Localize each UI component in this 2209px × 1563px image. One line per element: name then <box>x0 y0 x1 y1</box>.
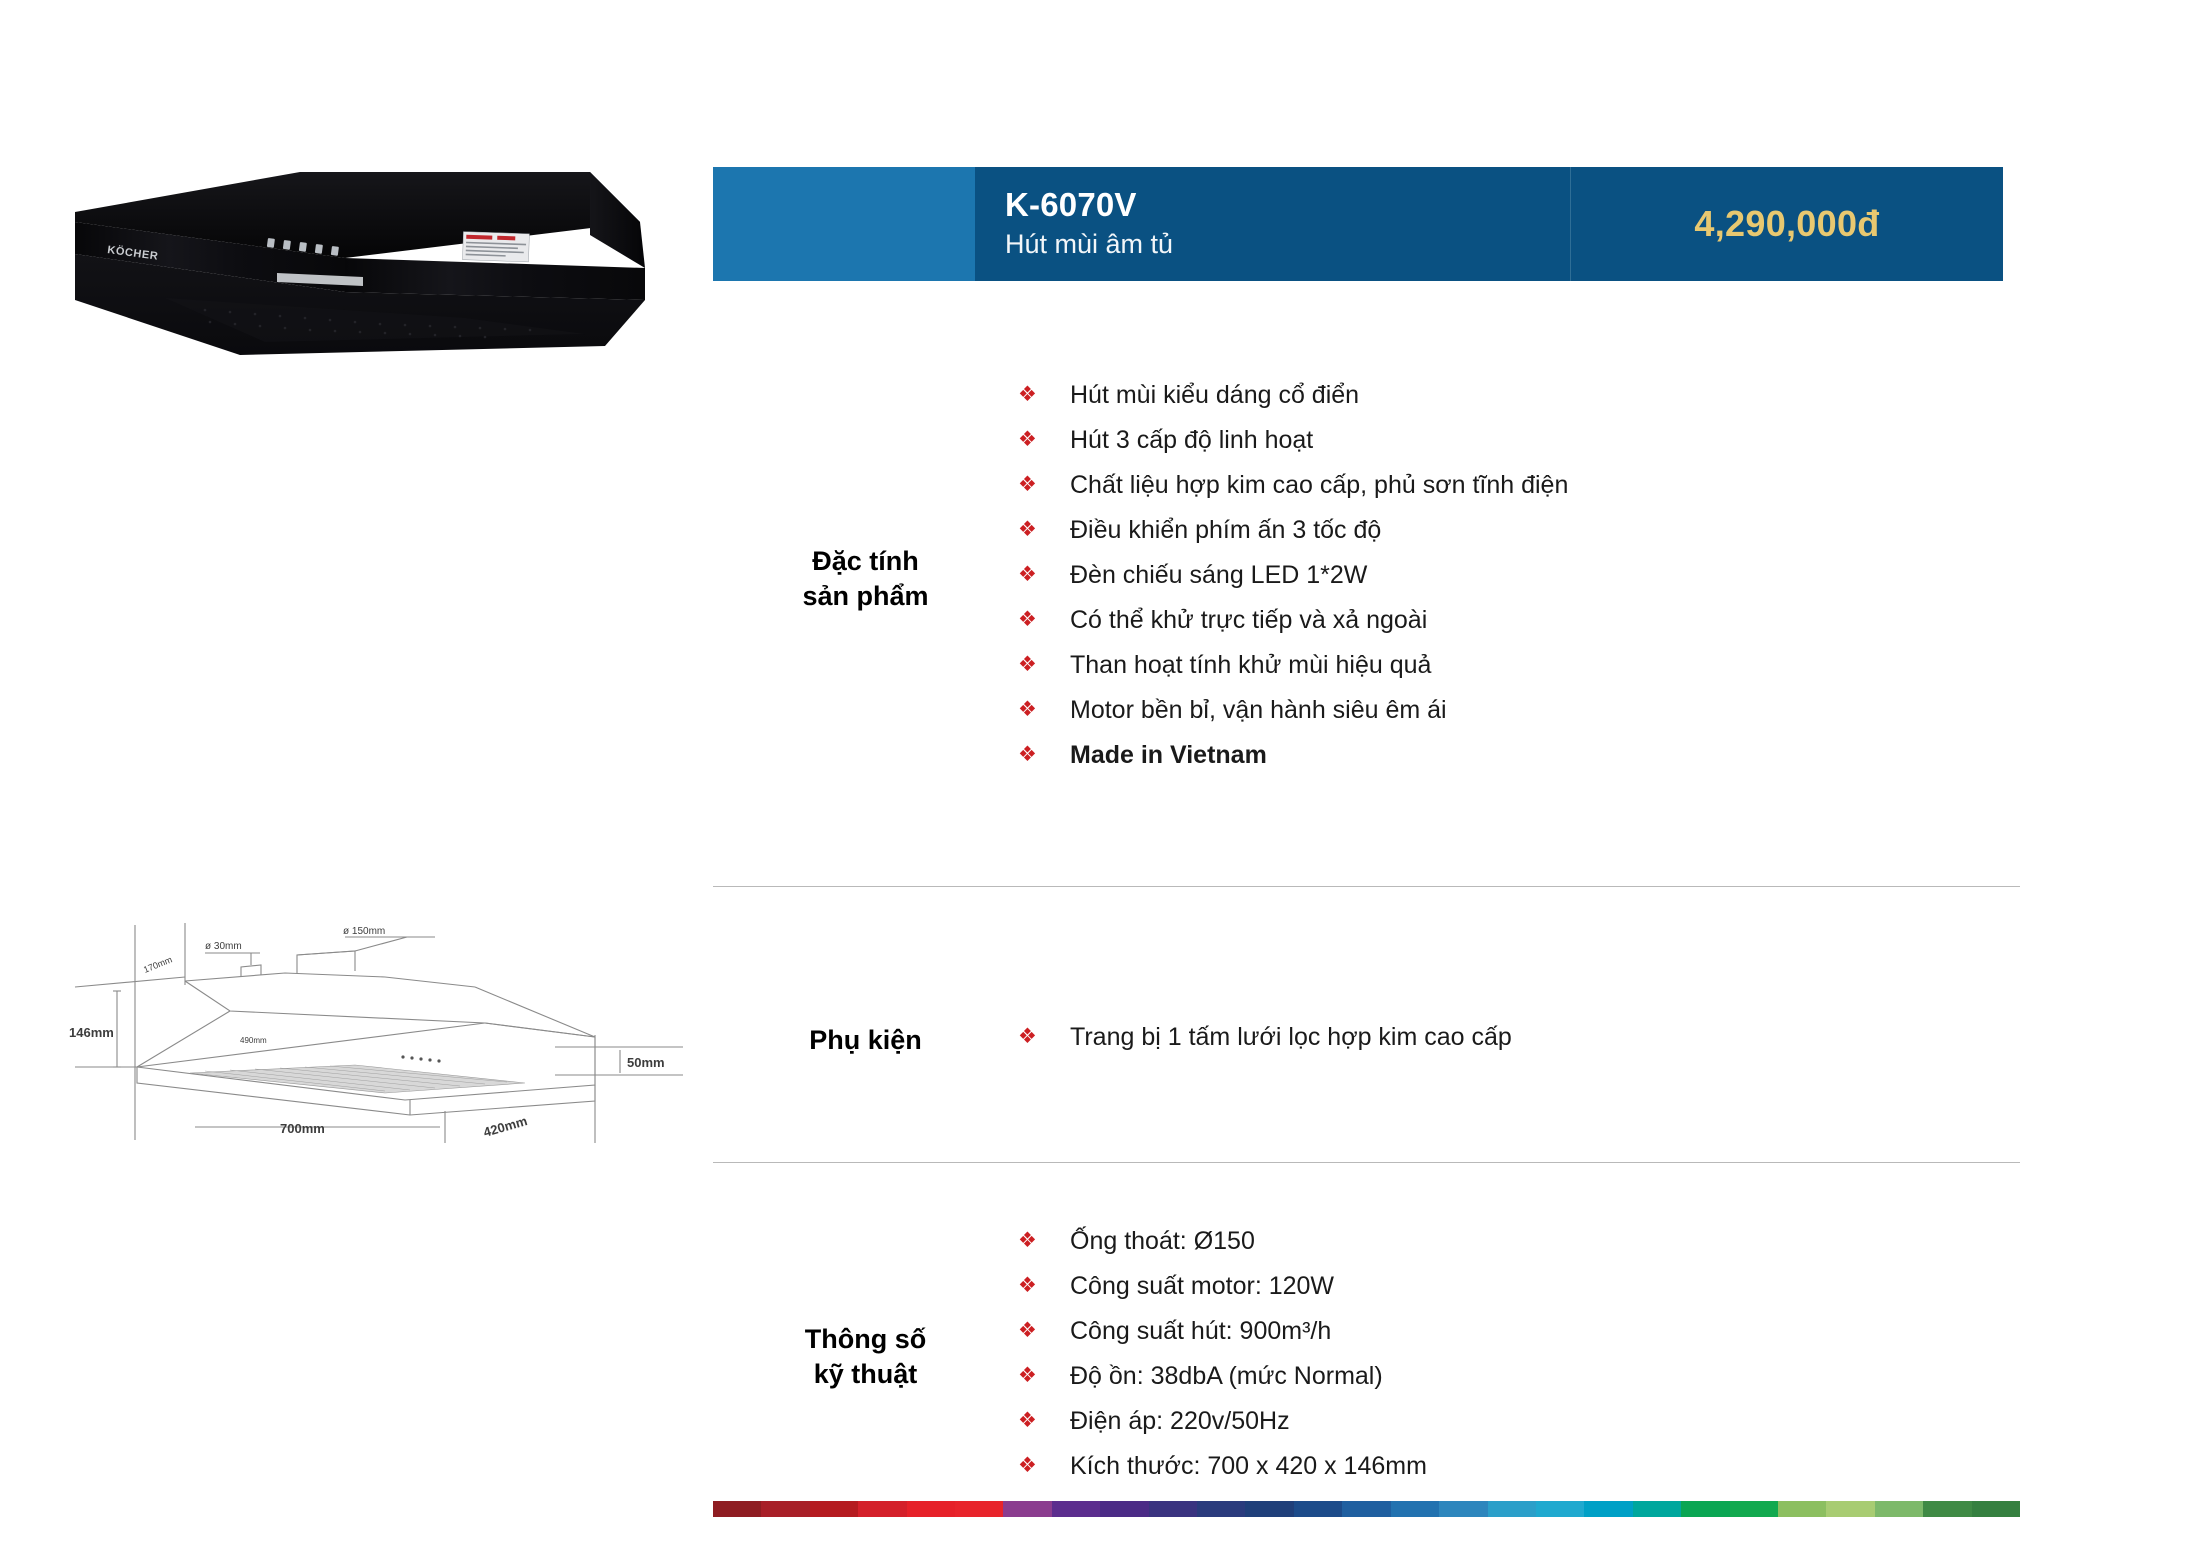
section-features-label-line1: Đặc tính <box>812 546 919 576</box>
spec-item: ❖ Công suất hút: 900m³/h <box>1018 1314 2020 1359</box>
diamond-bullet-icon: ❖ <box>1018 423 1070 457</box>
section-specifications-label-line1: Thông số <box>805 1324 926 1354</box>
svg-text:170mm: 170mm <box>142 954 174 975</box>
feature-text: Hút 3 cấp độ linh hoạt <box>1070 423 1313 457</box>
accessory-text: Trang bị 1 tấm lưới lọc hợp kim cao cấp <box>1070 1020 1512 1054</box>
diamond-bullet-icon: ❖ <box>1018 1269 1070 1303</box>
left-image-column: KÖCHER <box>0 0 700 1563</box>
footer-color-segment <box>1972 1501 2020 1517</box>
product-header-bar: K-6070V Hút mùi âm tủ 4,290,000đ <box>713 167 2003 281</box>
diamond-bullet-icon: ❖ <box>1018 693 1070 727</box>
spec-item: ❖ Độ ồn: 38dbA (mức Normal) <box>1018 1359 2020 1404</box>
technical-dimension-drawing: 146mm 700mm 420mm 50mm ø 30mm ø 150mm 17… <box>55 915 685 1145</box>
feature-text: Motor bền bỉ, vận hành siêu êm ái <box>1070 693 1447 727</box>
spec-item: ❖ Kích thước: 700 x 420 x 146mm <box>1018 1449 2020 1494</box>
diamond-bullet-icon: ❖ <box>1018 1224 1070 1258</box>
footer-color-segment <box>907 1501 955 1517</box>
diamond-bullet-icon: ❖ <box>1018 603 1070 637</box>
footer-color-segment <box>1197 1501 1245 1517</box>
product-model-name: K-6070V <box>1005 186 1570 224</box>
diamond-bullet-icon: ❖ <box>1018 558 1070 592</box>
diamond-bullet-icon: ❖ <box>1018 1020 1070 1054</box>
feature-text: Đèn chiếu sáng LED 1*2W <box>1070 558 1367 592</box>
diamond-bullet-icon: ❖ <box>1018 1359 1070 1393</box>
feature-item: ❖ Made in Vietnam <box>1018 738 2020 783</box>
section-features-label-line2: sản phẩm <box>802 581 928 611</box>
spec-text: Công suất hút: 900m³/h <box>1070 1314 1331 1348</box>
footer-color-segment <box>1149 1501 1197 1517</box>
diamond-bullet-icon: ❖ <box>1018 648 1070 682</box>
footer-color-segment <box>1342 1501 1390 1517</box>
diamond-bullet-icon: ❖ <box>1018 378 1070 412</box>
header-left-accent <box>713 167 975 281</box>
spec-item: ❖ Điện áp: 220v/50Hz <box>1018 1404 2020 1449</box>
footer-color-strip <box>713 1501 2020 1517</box>
feature-text: Made in Vietnam <box>1070 738 1267 772</box>
spec-text: Kích thước: 700 x 420 x 146mm <box>1070 1449 1427 1483</box>
section-specifications-label: Thông số kỹ thuật <box>713 1222 1018 1492</box>
product-price-block: 4,290,000đ <box>1571 167 2003 281</box>
svg-text:50mm: 50mm <box>627 1055 665 1070</box>
footer-color-segment <box>1100 1501 1148 1517</box>
accessory-item: ❖ Trang bị 1 tấm lưới lọc hợp kim cao cấ… <box>1018 1020 2020 1065</box>
footer-color-segment <box>1730 1501 1778 1517</box>
diamond-bullet-icon: ❖ <box>1018 468 1070 502</box>
svg-text:146mm: 146mm <box>69 1025 114 1040</box>
footer-color-segment <box>1003 1501 1051 1517</box>
product-category-subtitle: Hút mùi âm tủ <box>1005 227 1570 262</box>
footer-color-segment <box>1875 1501 1923 1517</box>
svg-text:700mm: 700mm <box>280 1121 325 1136</box>
feature-item: ❖ Điều khiển phím ấn 3 tốc độ <box>1018 513 2020 558</box>
svg-text:420mm: 420mm <box>482 1113 529 1140</box>
feature-item: ❖ Đèn chiếu sáng LED 1*2W <box>1018 558 2020 603</box>
spec-text: Điện áp: 220v/50Hz <box>1070 1404 1290 1438</box>
diamond-bullet-icon: ❖ <box>1018 738 1070 772</box>
svg-text:ø 30mm: ø 30mm <box>205 941 242 952</box>
footer-color-segment <box>1052 1501 1100 1517</box>
section-features-list: ❖ Hút mùi kiểu dáng cổ điển ❖ Hút 3 cấp … <box>1018 376 2020 783</box>
diamond-bullet-icon: ❖ <box>1018 1404 1070 1438</box>
feature-item: ❖ Hút 3 cấp độ linh hoạt <box>1018 423 2020 468</box>
footer-color-segment <box>1294 1501 1342 1517</box>
product-photo: KÖCHER <box>45 150 685 355</box>
section-features: Đặc tính sản phẩm ❖ Hút mùi kiểu dáng cổ… <box>713 376 2020 783</box>
section-accessories-label-line1: Phụ kiện <box>809 1025 922 1055</box>
section-accessories-list: ❖ Trang bị 1 tấm lưới lọc hợp kim cao cấ… <box>1018 1018 2020 1065</box>
spec-item: ❖ Công suất motor: 120W <box>1018 1269 2020 1314</box>
diamond-bullet-icon: ❖ <box>1018 513 1070 547</box>
footer-color-segment <box>1633 1501 1681 1517</box>
feature-item: ❖ Than hoạt tính khử mùi hiệu quả <box>1018 648 2020 693</box>
section-specifications-label-line2: kỹ thuật <box>814 1359 918 1389</box>
right-content-column: K-6070V Hút mùi âm tủ 4,290,000đ Đặc tín… <box>713 0 2003 1563</box>
footer-color-segment <box>858 1501 906 1517</box>
footer-color-segment <box>1584 1501 1632 1517</box>
svg-text:490mm: 490mm <box>240 1036 267 1045</box>
section-features-label: Đặc tính sản phẩm <box>713 376 1018 781</box>
feature-item: ❖ Có thể khử trực tiếp và xả ngoài <box>1018 603 2020 648</box>
product-price: 4,290,000đ <box>1694 203 1879 245</box>
footer-color-segment <box>1778 1501 1826 1517</box>
footer-color-segment <box>713 1501 761 1517</box>
diamond-bullet-icon: ❖ <box>1018 1449 1070 1483</box>
footer-color-segment <box>1826 1501 1874 1517</box>
feature-text: Điều khiển phím ấn 3 tốc độ <box>1070 513 1381 547</box>
svg-text:ø 150mm: ø 150mm <box>343 926 385 937</box>
spec-item: ❖ Ống thoát: Ø150 <box>1018 1224 2020 1269</box>
footer-color-segment <box>810 1501 858 1517</box>
footer-color-segment <box>1681 1501 1729 1517</box>
feature-text: Có thể khử trực tiếp và xả ngoài <box>1070 603 1427 637</box>
header-title-block: K-6070V Hút mùi âm tủ <box>975 167 1571 281</box>
section-specifications: Thông số kỹ thuật ❖ Ống thoát: Ø150 ❖ Cô… <box>713 1222 2020 1494</box>
section-accessories: Phụ kiện ❖ Trang bị 1 tấm lưới lọc hợp k… <box>713 1018 2020 1065</box>
spec-text: Ống thoát: Ø150 <box>1070 1224 1255 1258</box>
footer-color-segment <box>1391 1501 1439 1517</box>
footer-color-segment <box>1245 1501 1293 1517</box>
section-divider <box>713 886 2020 887</box>
section-divider <box>713 1162 2020 1163</box>
footer-color-segment <box>1536 1501 1584 1517</box>
diamond-bullet-icon: ❖ <box>1018 1314 1070 1348</box>
feature-text: Chất liệu hợp kim cao cấp, phủ sơn tĩnh … <box>1070 468 1568 502</box>
spec-text: Độ ồn: 38dbA (mức Normal) <box>1070 1359 1383 1393</box>
feature-text: Hút mùi kiểu dáng cổ điển <box>1070 378 1359 412</box>
feature-item: ❖ Chất liệu hợp kim cao cấp, phủ sơn tĩn… <box>1018 468 2020 513</box>
footer-color-segment <box>761 1501 809 1517</box>
footer-color-segment <box>1439 1501 1487 1517</box>
section-specifications-list: ❖ Ống thoát: Ø150 ❖ Công suất motor: 120… <box>1018 1222 2020 1494</box>
footer-color-segment <box>1923 1501 1971 1517</box>
product-spec-sheet: KÖCHER <box>0 0 2209 1563</box>
feature-text: Than hoạt tính khử mùi hiệu quả <box>1070 648 1431 682</box>
feature-item: ❖ Hút mùi kiểu dáng cổ điển <box>1018 378 2020 423</box>
spec-text: Công suất motor: 120W <box>1070 1269 1334 1303</box>
section-accessories-label: Phụ kiện <box>713 1018 1018 1063</box>
feature-item: ❖ Motor bền bỉ, vận hành siêu êm ái <box>1018 693 2020 738</box>
footer-color-segment <box>955 1501 1003 1517</box>
footer-color-segment <box>1488 1501 1536 1517</box>
